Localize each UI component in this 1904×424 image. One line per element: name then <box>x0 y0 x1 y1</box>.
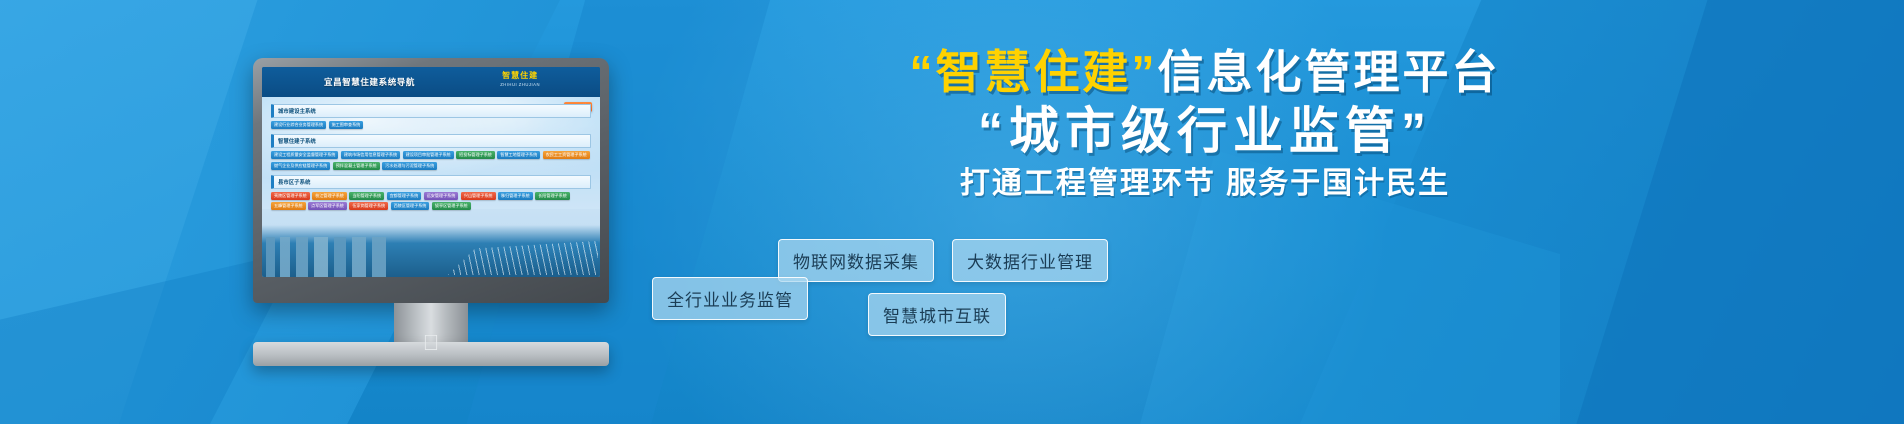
quote-open-mark: “ <box>910 46 936 98</box>
chip[interactable]: 预拌混凝土管理子系统 <box>333 162 380 170</box>
headline-subtitle: 打通工程管理环节 服务于国计民生 <box>640 162 1740 206</box>
screen-city-backdrop <box>262 225 600 277</box>
headline-block: “智慧住建”信息化管理平台 “城市级行业监管” 打通工程管理环节 服务于国计民生 <box>640 44 1740 206</box>
chip[interactable]: 燃气企业及供应链管理子系统 <box>271 162 330 170</box>
screen-logo-cn: 智慧住建 <box>500 71 540 81</box>
feature-tag-smartcity[interactable]: 智慧城市互联 <box>868 293 1006 336</box>
chip[interactable]: 点军区管理子系统 <box>308 202 347 210</box>
quote-close-mark: ” <box>1132 46 1158 98</box>
monitor-bezel: 宜昌智慧住建系统导航 智慧住建 ZHIHUI ZHUJIAN 资料下载 城市建设… <box>253 58 609 303</box>
headline-highlight: 智慧住建 <box>936 46 1132 98</box>
screen-section: 城市建设主系统 建设行业综合业务管理系统 施工图审查系统 <box>271 104 591 129</box>
headline-line-1: “智慧住建”信息化管理平台 <box>640 44 1740 100</box>
chip[interactable]: 建筑市场信用信息管理子系统 <box>341 151 400 159</box>
chip[interactable]: 长阳管理子系统 <box>535 192 570 200</box>
screen-body: 资料下载 城市建设主系统 建设行业综合业务管理系统 施工图审查系统 智慧住建子系… <box>262 97 600 277</box>
screen-logo: 智慧住建 ZHIHUI ZHUJIAN <box>500 71 540 88</box>
chip[interactable]: 当阳管理子系统 <box>349 192 384 200</box>
apple-logo-icon:  <box>420 331 442 355</box>
section-chip-list: 建设工程质量安全监督管理子系统 建筑市场信用信息管理子系统 建设项目审批管理子系… <box>271 151 591 170</box>
chip[interactable]: 农民工工资管理子系统 <box>543 151 590 159</box>
chip[interactable]: 秭归管理子系统 <box>498 192 533 200</box>
screen-header-title: 宜昌智慧住建系统导航 <box>324 76 415 88</box>
chip[interactable]: 西陵区管理子系统 <box>391 202 430 210</box>
monitor-screen: 宜昌智慧住建系统导航 智慧住建 ZHIHUI ZHUJIAN 资料下载 城市建设… <box>262 67 600 277</box>
chip[interactable]: 猇亭区管理子系统 <box>432 202 471 210</box>
chip[interactable]: 智慧工地管理子系统 <box>497 151 540 159</box>
section-title: 县市区子系统 <box>271 175 591 189</box>
chip[interactable]: 远安管理子系统 <box>424 192 459 200</box>
feature-tag-supervision[interactable]: 全行业业务监管 <box>652 277 808 320</box>
headline-rest: 信息化管理平台 <box>1158 46 1501 98</box>
screen-header: 宜昌智慧住建系统导航 智慧住建 ZHIHUI ZHUJIAN <box>262 67 600 97</box>
chip[interactable]: 建设工程质量安全监督管理子系统 <box>271 151 338 159</box>
chip[interactable]: 施工图审查系统 <box>329 121 364 129</box>
screen-logo-en: ZHIHUI ZHUJIAN <box>500 81 540 88</box>
chip[interactable]: 伍家岗管理子系统 <box>349 202 388 210</box>
chip[interactable]: 建设项目审批管理子系统 <box>403 151 454 159</box>
chip[interactable]: 宜都管理子系统 <box>387 192 422 200</box>
chip[interactable]: 枝江管理子系统 <box>312 192 347 200</box>
chip[interactable]: 招投标管理子系统 <box>456 151 495 159</box>
section-title: 城市建设主系统 <box>271 104 591 118</box>
section-chip-list: 夷陵区管理子系统 枝江管理子系统 当阳管理子系统 宜都管理子系统 远安管理子系统… <box>271 192 591 211</box>
chip[interactable]: 兴山管理子系统 <box>461 192 496 200</box>
chip[interactable]: 建设行业综合业务管理系统 <box>271 121 326 129</box>
section-title: 智慧住建子系统 <box>271 134 591 148</box>
chip[interactable]: 夷陵区管理子系统 <box>271 192 310 200</box>
monitor-mockup: 宜昌智慧住建系统导航 智慧住建 ZHIHUI ZHUJIAN 资料下载 城市建设… <box>253 58 609 303</box>
feature-tag-iot[interactable]: 物联网数据采集 <box>778 239 934 282</box>
chip[interactable]: 污水处理与污泥管理子系统 <box>382 162 437 170</box>
feature-tag-bigdata[interactable]: 大数据行业管理 <box>952 239 1108 282</box>
promo-banner: 宜昌智慧住建系统导航 智慧住建 ZHIHUI ZHUJIAN 资料下载 城市建设… <box>0 0 1904 424</box>
screen-section: 县市区子系统 夷陵区管理子系统 枝江管理子系统 当阳管理子系统 宜都管理子系统 … <box>271 175 591 211</box>
chip[interactable]: 五峰管理子系统 <box>271 202 306 210</box>
section-chip-list: 建设行业综合业务管理系统 施工图审查系统 <box>271 121 591 129</box>
screen-section: 智慧住建子系统 建设工程质量安全监督管理子系统 建筑市场信用信息管理子系统 建设… <box>271 134 591 170</box>
headline-line-2: “城市级行业监管” <box>640 100 1740 162</box>
